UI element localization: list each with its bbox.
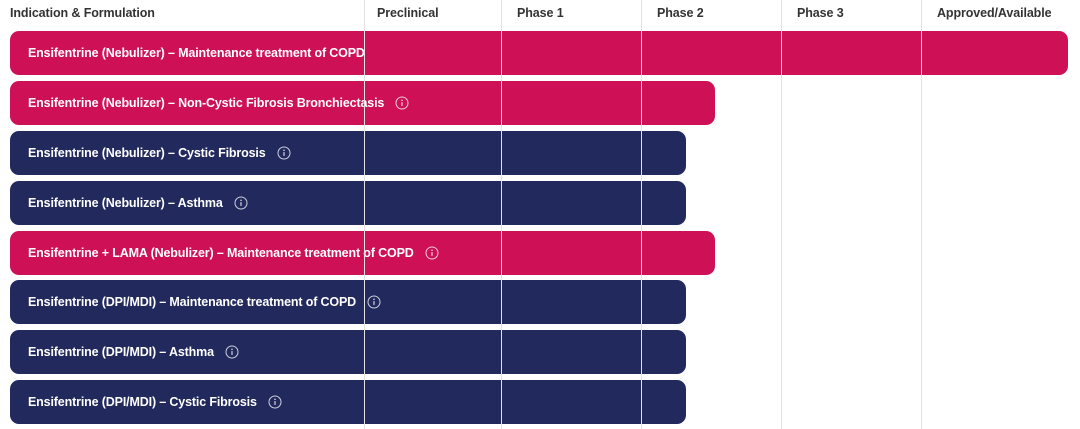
pipeline-bars: Ensifentrine (Nebulizer) – Maintenance t… <box>0 0 1080 429</box>
info-circle-icon[interactable] <box>225 345 239 359</box>
pipeline-chart: Indication & FormulationPreclinicalPhase… <box>0 0 1080 429</box>
pipeline-bar-label: Ensifentrine (DPI/MDI) – Maintenance tre… <box>28 295 356 309</box>
pipeline-bar-label: Ensifentrine + LAMA (Nebulizer) – Mainte… <box>28 246 414 260</box>
info-circle-icon[interactable] <box>268 395 282 409</box>
pipeline-bar[interactable]: Ensifentrine (DPI/MDI) – Cystic Fibrosis <box>10 380 686 424</box>
pipeline-bar[interactable]: Ensifentrine (Nebulizer) – Maintenance t… <box>10 31 1068 75</box>
info-circle-icon[interactable] <box>367 295 381 309</box>
info-circle-icon[interactable] <box>425 246 439 260</box>
pipeline-bar[interactable]: Ensifentrine (Nebulizer) – Cystic Fibros… <box>10 131 686 175</box>
pipeline-bar[interactable]: Ensifentrine (DPI/MDI) – Maintenance tre… <box>10 280 686 324</box>
info-circle-icon[interactable] <box>277 146 291 160</box>
pipeline-bar[interactable]: Ensifentrine (Nebulizer) – Non-Cystic Fi… <box>10 81 715 125</box>
pipeline-bar[interactable]: Ensifentrine (Nebulizer) – Asthma <box>10 181 686 225</box>
pipeline-bar[interactable]: Ensifentrine (DPI/MDI) – Asthma <box>10 330 686 374</box>
pipeline-bar-label: Ensifentrine (Nebulizer) – Asthma <box>28 196 223 210</box>
pipeline-bar-label: Ensifentrine (Nebulizer) – Non-Cystic Fi… <box>28 96 384 110</box>
pipeline-bar-label: Ensifentrine (Nebulizer) – Cystic Fibros… <box>28 146 266 160</box>
pipeline-bar-label: Ensifentrine (DPI/MDI) – Cystic Fibrosis <box>28 395 257 409</box>
pipeline-bar-label: Ensifentrine (DPI/MDI) – Asthma <box>28 345 214 359</box>
info-circle-icon[interactable] <box>234 196 248 210</box>
pipeline-bar-label: Ensifentrine (Nebulizer) – Maintenance t… <box>28 46 365 60</box>
pipeline-bar[interactable]: Ensifentrine + LAMA (Nebulizer) – Mainte… <box>10 231 715 275</box>
info-circle-icon[interactable] <box>395 96 409 110</box>
